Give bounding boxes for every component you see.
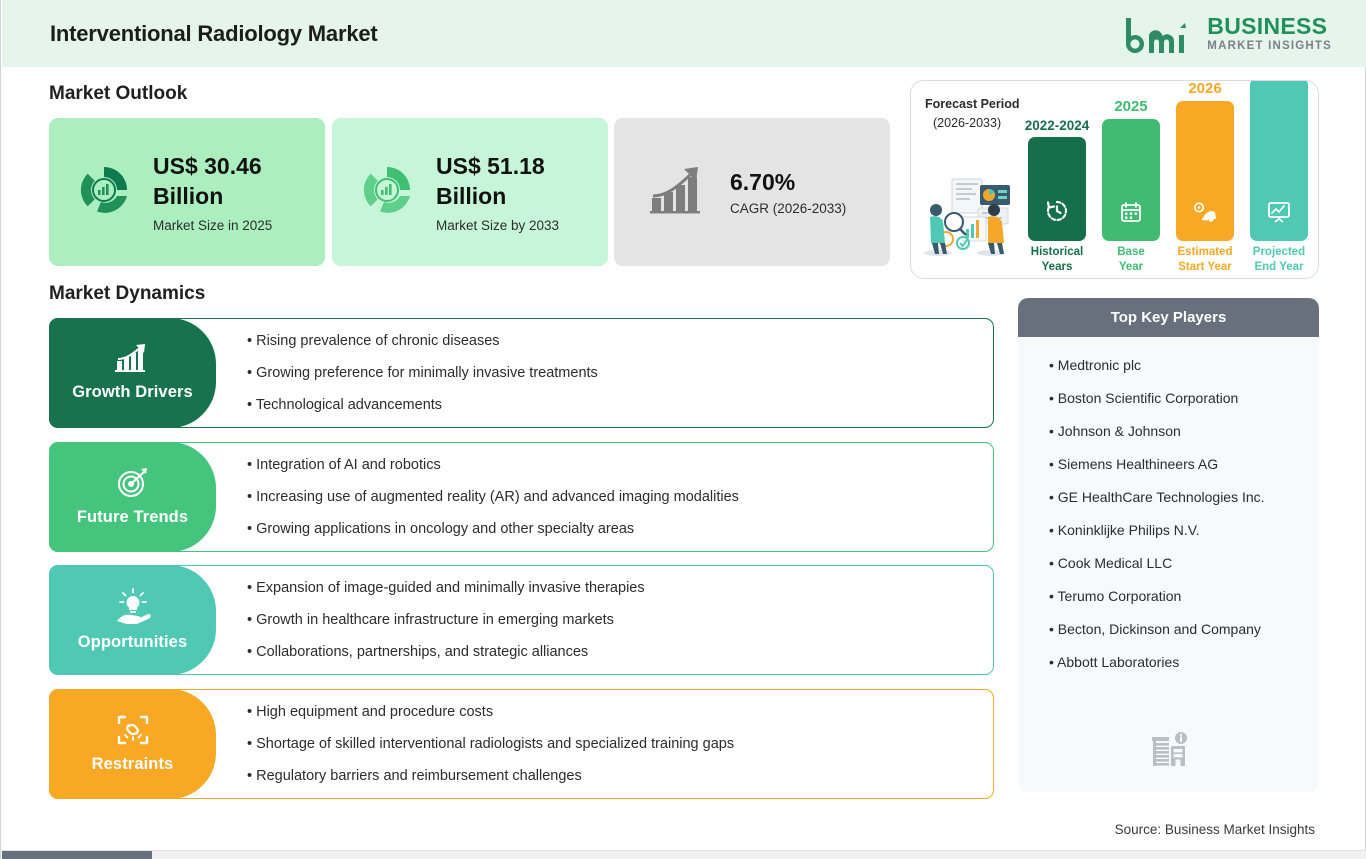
- player-name: Medtronic plc: [1058, 357, 1141, 373]
- bar-rect: [1102, 119, 1160, 241]
- target-dart-icon: [116, 467, 150, 504]
- bullet-item: • Rising prevalence of chronic diseases: [247, 333, 980, 349]
- blocked-link-icon: [116, 714, 150, 751]
- list-item: • Koninklijke Philips N.V.: [1049, 522, 1319, 538]
- data-analysis-illustration: [916, 173, 1016, 258]
- list-item: • Abbott Laboratories: [1049, 654, 1319, 670]
- bullet-text: Growing preference for minimally invasiv…: [256, 365, 598, 381]
- player-name: Johnson & Johnson: [1058, 423, 1181, 439]
- forecast-settings-icon: [1192, 201, 1218, 228]
- bullet-text: Growing applications in oncology and oth…: [256, 521, 634, 537]
- dynamics-row-restraints: Restraints • High equipment and procedur…: [49, 689, 994, 799]
- cagr-label: CAGR (2026-2033): [730, 201, 846, 216]
- source-text: Source: Business Market Insights: [1115, 822, 1315, 837]
- bmi-logo-icon: [1122, 14, 1196, 54]
- bar-rect: [1176, 101, 1234, 241]
- card-value: US$ 51.18 Billion: [436, 151, 596, 212]
- list-item: • Becton, Dickinson and Company: [1049, 621, 1319, 637]
- bullet-item: • Growing applications in oncology and o…: [247, 521, 980, 537]
- card-label: Market Size in 2025: [153, 218, 313, 233]
- bullet-text: Increasing use of augmented reality (AR)…: [256, 489, 739, 505]
- bullet-item: • High equipment and procedure costs: [247, 704, 980, 720]
- horizontal-scrollbar[interactable]: [2, 850, 1366, 859]
- bar-year-label: 2026: [1188, 80, 1221, 97]
- bullet-item: • Growing preference for minimally invas…: [247, 365, 980, 381]
- bullet-text: Rising prevalence of chronic diseases: [256, 333, 499, 349]
- bullet-text: Technological advancements: [256, 397, 442, 413]
- outlook-card-market-size-2025: US$ 30.46 Billion Market Size in 2025: [49, 118, 325, 266]
- bullet-text: Expansion of image-guided and minimally …: [256, 580, 645, 596]
- logo-brand-name: BUSINESS: [1207, 15, 1332, 38]
- dynamics-pill: Growth Drivers: [49, 318, 216, 428]
- list-item: • Boston Scientific Corporation: [1049, 390, 1319, 406]
- player-name: Terumo Corporation: [1058, 588, 1182, 604]
- donut-chart-icon: [360, 163, 414, 222]
- player-name: Koninklijke Philips N.V.: [1058, 522, 1200, 538]
- player-name: Becton, Dickinson and Company: [1058, 621, 1261, 637]
- key-players-title: Top Key Players: [1018, 298, 1319, 337]
- bullet-text: Growth in healthcare infrastructure in e…: [256, 612, 614, 628]
- growth-arrow-icon: [650, 165, 710, 220]
- market-outlook-heading: Market Outlook: [49, 83, 187, 105]
- bullet-item: • Integration of AI and robotics: [247, 457, 980, 473]
- player-name: GE HealthCare Technologies Inc.: [1058, 489, 1265, 505]
- bar-caption: HistoricalYears: [1031, 245, 1083, 274]
- cagr-value: 6.70%: [730, 169, 846, 196]
- forecast-subtitle: (2026-2033): [925, 114, 1019, 133]
- player-name: Siemens Healthineers AG: [1058, 456, 1218, 472]
- bar-historical-years: 2022-2024 HistoricalYears: [1028, 118, 1086, 274]
- logo-tagline: MARKET INSIGHTS: [1207, 41, 1332, 53]
- brand-logo: BUSINESS MARKET INSIGHTS: [1122, 14, 1332, 54]
- dynamics-bullets: • Rising prevalence of chronic diseases …: [247, 318, 980, 428]
- outlook-card-cagr: 6.70% CAGR (2026-2033): [614, 118, 890, 266]
- bar-year-label: 2025: [1114, 98, 1147, 115]
- lightbulb-hand-icon: [113, 588, 153, 629]
- bullet-text: Shortage of skilled interventional radio…: [256, 736, 734, 752]
- bar-caption: ProjectedEnd Year: [1253, 245, 1305, 274]
- market-dynamics-heading: Market Dynamics: [49, 283, 205, 305]
- bullet-text: Integration of AI and robotics: [256, 457, 441, 473]
- bullet-item: • Increasing use of augmented reality (A…: [247, 489, 980, 505]
- company-building-info-icon: [1018, 730, 1319, 774]
- bullet-text: Regulatory barriers and reimbursement ch…: [256, 768, 582, 784]
- bar-projected-end-year: 2033 ProjectedEnd Year: [1250, 80, 1308, 274]
- bar-rect: [1028, 137, 1086, 241]
- player-name: Boston Scientific Corporation: [1058, 390, 1239, 406]
- bullet-item: • Regulatory barriers and reimbursement …: [247, 768, 980, 784]
- calendar-icon: [1120, 201, 1142, 228]
- card-value: US$ 30.46 Billion: [153, 151, 313, 212]
- bar-caption: EstimatedStart Year: [1178, 245, 1233, 274]
- dynamics-bullets: • Integration of AI and robotics • Incre…: [247, 442, 980, 552]
- bullet-text: High equipment and procedure costs: [256, 704, 493, 720]
- player-name: Cook Medical LLC: [1058, 555, 1172, 571]
- dynamics-pill: Future Trends: [49, 442, 216, 552]
- dynamics-pill-label: Growth Drivers: [72, 383, 193, 402]
- bullet-item: • Technological advancements: [247, 397, 980, 413]
- list-item: • Johnson & Johnson: [1049, 423, 1319, 439]
- forecast-bars: 2022-2024 HistoricalYears 2025 BaseYear: [1026, 81, 1318, 279]
- bullet-item: • Expansion of image-guided and minimall…: [247, 580, 980, 596]
- list-item: • Terumo Corporation: [1049, 588, 1319, 604]
- list-item: • Cook Medical LLC: [1049, 555, 1319, 571]
- dynamics-bullets: • Expansion of image-guided and minimall…: [247, 565, 980, 675]
- player-name: Abbott Laboratories: [1057, 654, 1179, 670]
- bar-estimated-start-year: 2026 EstimatedStart Year: [1176, 80, 1234, 274]
- infographic-page: Interventional Radiology Market BUSINESS…: [0, 0, 1366, 859]
- page-header: Interventional Radiology Market BUSINESS…: [2, 0, 1366, 67]
- scrollbar-thumb[interactable]: [2, 851, 152, 859]
- dynamics-pill: Opportunities: [49, 565, 216, 675]
- dynamics-pill-label: Opportunities: [78, 633, 187, 652]
- list-item: • Medtronic plc: [1049, 357, 1319, 373]
- donut-chart-icon: [77, 163, 131, 222]
- dynamics-pill-label: Restraints: [92, 755, 174, 774]
- card-label: Market Size by 2033: [436, 218, 596, 233]
- forecast-title: Forecast Period: [925, 95, 1019, 114]
- bar-caption: BaseYear: [1117, 245, 1145, 274]
- outlook-card-market-size-2033: US$ 51.18 Billion Market Size by 2033: [332, 118, 608, 266]
- bullet-item: • Growth in healthcare infrastructure in…: [247, 612, 980, 628]
- top-key-players-panel: Top Key Players • Medtronic plc • Boston…: [1018, 298, 1319, 792]
- forecast-period-label: Forecast Period (2026-2033): [925, 95, 1019, 133]
- dynamics-row-growth-drivers: Growth Drivers • Rising prevalence of ch…: [49, 318, 994, 428]
- dynamics-bullets: • High equipment and procedure costs • S…: [247, 689, 980, 799]
- dynamics-row-opportunities: Opportunities • Expansion of image-guide…: [49, 565, 994, 675]
- dynamics-row-future-trends: Future Trends • Integration of AI and ro…: [49, 442, 994, 552]
- bar-rect: [1250, 80, 1308, 241]
- bar-chart-growth-icon: [115, 344, 151, 379]
- bar-base-year: 2025 BaseYear: [1102, 98, 1160, 274]
- presentation-chart-icon: [1267, 201, 1291, 228]
- dynamics-pill: Restraints: [49, 689, 216, 799]
- list-item: • Siemens Healthineers AG: [1049, 456, 1319, 472]
- bullet-text: Collaborations, partnerships, and strate…: [256, 644, 588, 660]
- dynamics-pill-label: Future Trends: [77, 508, 188, 527]
- bullet-item: • Collaborations, partnerships, and stra…: [247, 644, 980, 660]
- history-clock-icon: [1045, 199, 1069, 228]
- page-title: Interventional Radiology Market: [50, 21, 378, 47]
- bar-year-label: 2022-2024: [1025, 118, 1090, 133]
- bullet-item: • Shortage of skilled interventional rad…: [247, 736, 980, 752]
- list-item: • GE HealthCare Technologies Inc.: [1049, 489, 1319, 505]
- forecast-period-chart: Forecast Period (2026-2033): [910, 80, 1319, 279]
- key-players-list: • Medtronic plc • Boston Scientific Corp…: [1018, 337, 1319, 670]
